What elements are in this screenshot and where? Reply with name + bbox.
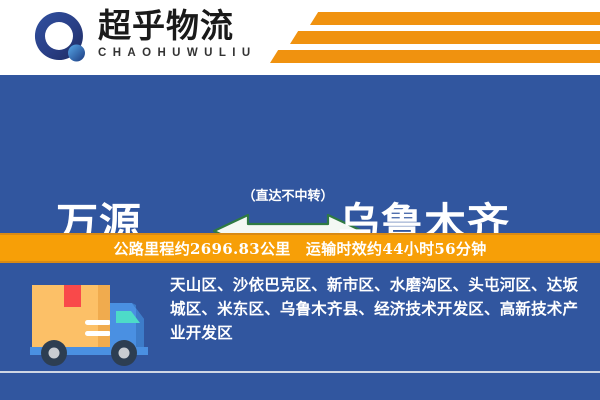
logistics-route-banner: 超乎物流 CHAOHUWULIU 万源 （直达不中转） 【往返运输】 乌鲁木齐 … (0, 0, 600, 400)
brand-name-en: CHAOHUWULIU (98, 47, 278, 59)
covered-districts-text: 天山区、沙依巴克区、新市区、水磨沟区、头屯河区、达坂城区、米东区、乌鲁木齐县、经… (170, 273, 584, 345)
stripe-3 (270, 50, 600, 63)
brand-name-cn: 超乎物流 (98, 8, 278, 44)
route-section: 万源 （直达不中转） 【往返运输】 乌鲁木齐 (0, 75, 600, 233)
decorative-stripes (270, 0, 600, 75)
distance-duration-bar: 公路里程约2696.83公里 运输时效约44小时56分钟 (0, 233, 600, 263)
stripe-2 (290, 31, 600, 44)
distance-duration-text: 公路里程约2696.83公里 运输时效约44小时56分钟 (114, 238, 487, 259)
coverage-section: 天山区、沙依巴克区、新市区、水磨沟区、头屯河区、达坂城区、米东区、乌鲁木齐县、经… (0, 263, 600, 400)
brand-block: 超乎物流 CHAOHUWULIU (98, 8, 278, 59)
banner-header: 超乎物流 CHAOHUWULIU (0, 0, 600, 75)
stripe-1 (310, 12, 600, 25)
delivery-truck-icon (28, 275, 154, 376)
circle-crescent-logo-icon (33, 10, 89, 66)
